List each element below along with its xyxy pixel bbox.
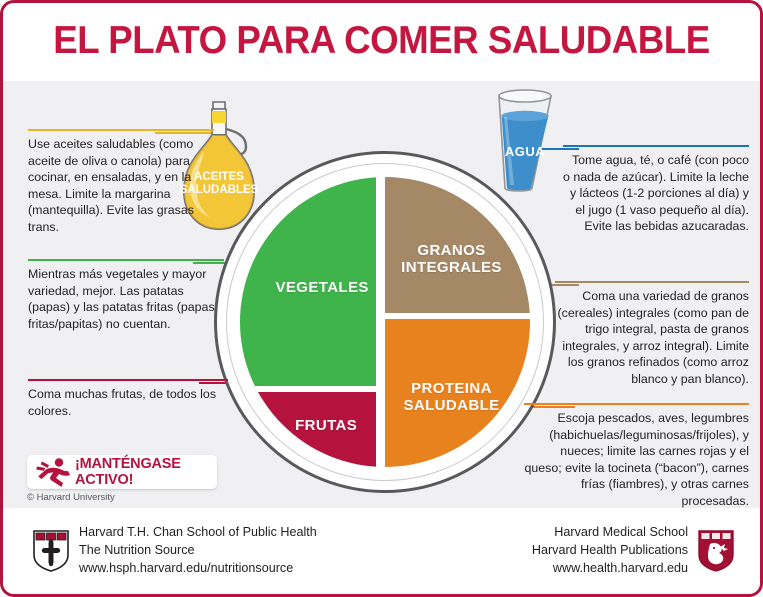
footer-right-text: Harvard Medical School Harvard Health Pu…: [532, 524, 688, 578]
footer-right-block: Harvard Medical School Harvard Health Pu…: [532, 524, 734, 578]
page-title: EL PLATO PARA COMER SALUDABLE: [26, 19, 738, 63]
footer-left-line3[interactable]: www.hsph.harvard.edu/nutritionsource: [79, 560, 317, 578]
callout-text-water: Tome agua, té, o café (con poco o nada d…: [563, 152, 749, 235]
protein-label-line2: SALUDABLE: [403, 397, 499, 414]
callout-rule-oils: [28, 129, 214, 131]
water-glass-icon: [492, 87, 558, 195]
callout-rule-water: [563, 145, 749, 147]
healthy-eating-plate-poster: EL PLATO PARA COMER SALUDABLE VEGETALES …: [0, 0, 763, 597]
grains-label-line2: INTEGRALES: [401, 259, 502, 276]
footer-left-text: Harvard T.H. Chan School of Public Healt…: [79, 524, 317, 578]
plate-inner-surface: VEGETALES FRUTAS GRANOS INTEGRALES: [240, 177, 530, 467]
protein-label-line1: PROTEINA: [403, 380, 499, 397]
footer-right-line3[interactable]: www.health.harvard.edu: [532, 560, 688, 578]
callout-text-fruits: Coma muchas frutas, de todos los colores…: [28, 386, 228, 419]
callout-text-oils: Use aceites saludables (como aceite de o…: [28, 136, 214, 235]
title-band: EL PLATO PARA COMER SALUDABLE: [3, 3, 760, 81]
healthy-eating-plate: VEGETALES FRUTAS GRANOS INTEGRALES: [214, 151, 556, 493]
footer-left-line1: Harvard T.H. Chan School of Public Healt…: [79, 524, 317, 542]
grains-label-line1: GRANOS: [401, 242, 502, 259]
callout-rule-grains: [555, 281, 749, 283]
callout-rule-fruits: [28, 379, 228, 381]
callout-rule-vegetables: [28, 259, 224, 261]
callout-healthy-protein: Escoja pescados, aves, legumbres (habich…: [524, 403, 749, 509]
grains-label: GRANOS INTEGRALES: [401, 242, 502, 277]
harvard-shield-icon: [33, 530, 69, 572]
callout-healthy-oils: Use aceites saludables (como aceite de o…: [28, 129, 214, 235]
callout-water: Tome agua, té, o café (con poco o nada d…: [563, 145, 749, 235]
footer-right-line2: Harvard Health Publications: [532, 542, 688, 560]
plate-section-whole-grains[interactable]: GRANOS INTEGRALES: [385, 177, 530, 313]
fruits-fill: FRUTAS: [240, 392, 376, 467]
grains-fill: GRANOS INTEGRALES: [385, 177, 530, 313]
callout-text-vegetables: Mientras más vegetales y mayor variedad,…: [28, 266, 224, 332]
plate-section-healthy-protein[interactable]: PROTEINA SALUDABLE: [385, 319, 530, 467]
callout-rule-protein: [524, 403, 749, 405]
callout-whole-grains: Coma una variedad de granos (cereales) i…: [555, 281, 749, 387]
running-person-icon: [35, 457, 75, 487]
copyright-text: © Harvard University: [27, 492, 115, 503]
callout-text-grains: Coma una variedad de granos (cereales) i…: [555, 288, 749, 387]
stay-active-label: ¡MANTÉNGASE ACTIVO!: [75, 456, 217, 488]
vegetables-label: VEGETALES: [275, 279, 368, 296]
callout-text-protein: Escoja pescados, aves, legumbres (habich…: [524, 410, 749, 509]
footer-right-line1: Harvard Medical School: [532, 524, 688, 542]
stay-active-badge: ¡MANTÉNGASE ACTIVO!: [27, 455, 217, 489]
callout-vegetables: Mientras más vegetales y mayor variedad,…: [28, 259, 224, 332]
harvard-medical-school-shield-icon: [698, 530, 734, 572]
protein-label: PROTEINA SALUDABLE: [403, 380, 499, 415]
callout-fruits: Coma muchas frutas, de todos los colores…: [28, 379, 228, 419]
protein-fill: PROTEINA SALUDABLE: [385, 319, 530, 467]
water-glass-label: AGUA: [492, 144, 558, 159]
poster-footer: Harvard T.H. Chan School of Public Healt…: [3, 508, 760, 597]
fruits-label: FRUTAS: [295, 417, 357, 434]
plate-section-fruits[interactable]: FRUTAS: [240, 392, 376, 467]
footer-left-block: Harvard T.H. Chan School of Public Healt…: [33, 524, 317, 578]
water-glass-graphic: AGUA: [492, 87, 558, 195]
footer-left-line2: The Nutrition Source: [79, 542, 317, 560]
